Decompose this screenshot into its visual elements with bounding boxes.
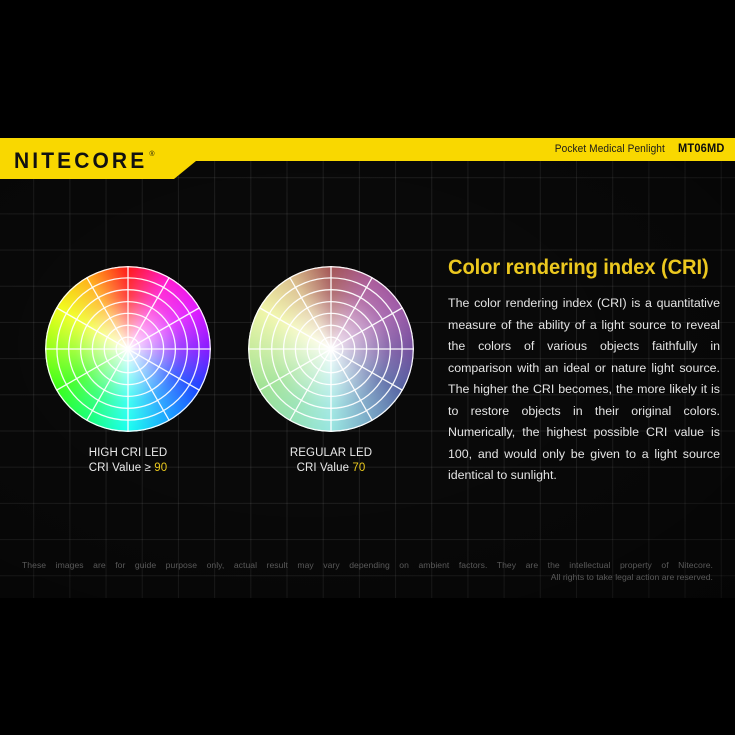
slide-canvas: NITECORE ® Pocket Medical Penlight MT06M… xyxy=(0,0,735,735)
wheel-caption-title: REGULAR LED xyxy=(248,446,414,461)
color-wheel-high-cri-group: HIGH CRI LED CRI Value ≥ 90 xyxy=(45,266,211,475)
wheel-caption-value: CRI Value ≥ 90 xyxy=(45,461,211,476)
header-product-info: Pocket Medical Penlight MT06MD xyxy=(550,141,727,155)
cri-value-prefix: CRI Value xyxy=(297,462,353,474)
brand-wordmark: NITECORE xyxy=(14,150,147,172)
color-wheel-regular-group: REGULAR LED CRI Value 70 xyxy=(248,266,414,475)
cri-value-number: 90 xyxy=(154,462,167,474)
registered-trademark-icon: ® xyxy=(149,151,154,158)
content-stage: NITECORE ® Pocket Medical Penlight MT06M… xyxy=(0,138,735,598)
polar-grid-overlay xyxy=(45,266,211,432)
wheel-caption-value: CRI Value 70 xyxy=(248,461,414,476)
cri-value-number: 70 xyxy=(352,462,365,474)
nitecore-logo: NITECORE ® xyxy=(14,150,154,171)
disclaimer-line-2: All rights to take legal action are rese… xyxy=(22,572,713,584)
product-model-name: MT06MD xyxy=(678,141,725,155)
wheel-caption-title: HIGH CRI LED xyxy=(45,446,211,461)
cri-value-prefix: CRI Value xyxy=(89,462,145,474)
disclaimer-line-1: These images are for guide purpose only,… xyxy=(22,560,713,572)
product-tagline: Pocket Medical Penlight xyxy=(555,143,665,155)
section-title: Color rendering index (CRI) xyxy=(448,256,709,280)
cri-value-operator: ≥ xyxy=(145,462,155,474)
section-body-text: The color rendering index (CRI) is a qua… xyxy=(448,293,720,487)
wheel-caption-high-cri: HIGH CRI LED CRI Value ≥ 90 xyxy=(45,446,211,475)
color-wheel-regular xyxy=(248,266,414,432)
description-column: Color rendering index (CRI) The color re… xyxy=(448,256,720,487)
disclaimer: These images are for guide purpose only,… xyxy=(0,560,735,583)
polar-grid-overlay xyxy=(248,266,414,432)
color-wheel-high-cri xyxy=(45,266,211,432)
wheel-caption-regular: REGULAR LED CRI Value 70 xyxy=(248,446,414,475)
